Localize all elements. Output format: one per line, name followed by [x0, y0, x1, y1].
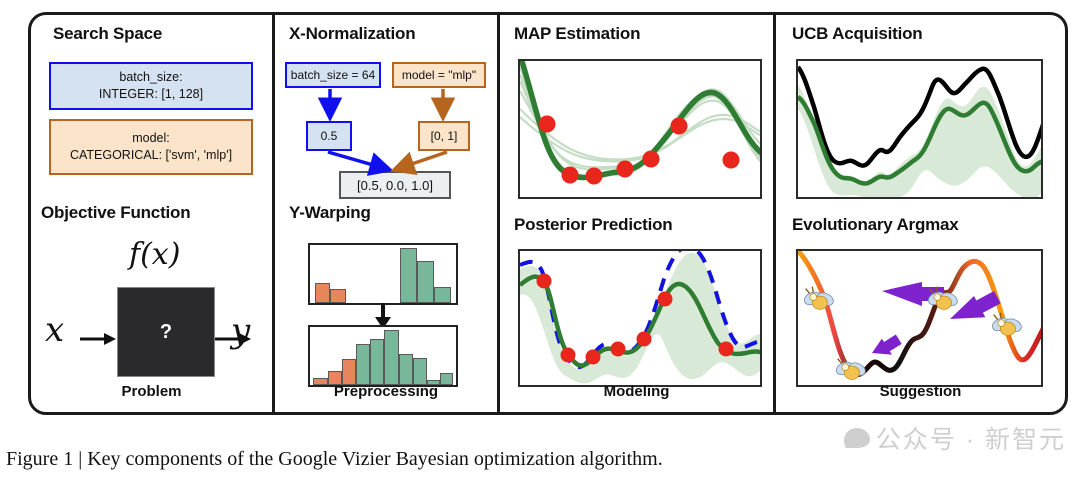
observation-point: [537, 274, 552, 289]
histogram-bar: [356, 344, 370, 385]
xnorm-node-value-05[interactable]: 0.5: [306, 121, 352, 151]
observation-point: [671, 118, 688, 135]
search-space-box-batch-size[interactable]: batch_size: INTEGER: [1, 128]: [49, 62, 253, 110]
xnorm-node-label: model = "mlp": [402, 68, 476, 82]
observation-point: [611, 342, 626, 357]
panel-title-search-space: Search Space: [53, 24, 162, 44]
observation-point: [586, 168, 603, 185]
xnorm-node-label: [0.5, 0.0, 1.0]: [357, 178, 433, 193]
map-estimation-plot: [518, 59, 762, 199]
column-problem: Search Space batch_size: INTEGER: [1, 12…: [31, 15, 272, 412]
xnorm-node-batch-size[interactable]: batch_size = 64: [285, 62, 381, 88]
observation-point: [723, 152, 740, 169]
watermark: 公众号 · 新智元: [844, 420, 1066, 456]
histogram-bar: [342, 359, 356, 385]
column-suggestion: UCB Acquisition Evolutionary Argmax: [776, 15, 1065, 412]
observation-point: [637, 332, 652, 347]
objective-output-variable: y: [231, 311, 250, 351]
histogram-bar: [417, 261, 434, 303]
xnorm-node-label: 0.5: [321, 129, 338, 143]
histogram-bar: [370, 339, 384, 385]
panel-title-objective-function: Objective Function: [41, 203, 190, 223]
panel-title-x-normalization: X-Normalization: [289, 24, 415, 44]
observation-point: [586, 350, 601, 365]
column-modeling: MAP Estimation: [500, 15, 773, 412]
watermark-text: 公众号 · 新智元: [876, 420, 1066, 456]
objective-black-box: ?: [117, 287, 215, 377]
posterior-prediction-chart: [520, 251, 762, 387]
firefly-icon: [990, 313, 1023, 336]
search-space-param-name: batch_size:: [119, 70, 182, 84]
panel-title-evolutionary-argmax: Evolutionary Argmax: [792, 215, 959, 235]
map-estimation-chart: [520, 61, 762, 199]
histogram-bar: [413, 358, 427, 385]
ucb-acquisition-chart: [798, 61, 1043, 199]
objective-input-arrow-icon: [80, 331, 116, 347]
xnorm-node-model[interactable]: model = "mlp": [392, 62, 486, 88]
figure-frame: Search Space batch_size: INTEGER: [1, 12…: [28, 12, 1068, 415]
stage-label-problem: Problem: [31, 383, 272, 400]
histogram-bar: [400, 248, 417, 303]
observation-point: [561, 348, 576, 363]
panel-title-posterior-prediction: Posterior Prediction: [514, 215, 672, 235]
panel-title-y-warping: Y-Warping: [289, 203, 371, 223]
observation-point: [539, 116, 556, 133]
evolutionary-argmax-plot: [796, 249, 1043, 387]
column-preprocessing: X-Normalization batch_size = 64 model = …: [275, 15, 497, 412]
ucb-acquisition-plot: [796, 59, 1043, 199]
figure-caption: Figure 1 | Key components of the Google …: [6, 448, 663, 471]
histogram-bar: [315, 283, 331, 303]
stage-label-preprocessing: Preprocessing: [275, 383, 497, 400]
search-space-param-name: model:: [132, 131, 170, 145]
xnorm-node-vector[interactable]: [0.5, 0.0, 1.0]: [339, 171, 451, 199]
posterior-prediction-plot: [518, 249, 762, 387]
histogram-bar: [384, 330, 398, 385]
histogram-bar: [434, 287, 451, 303]
search-space-param-type: CATEGORICAL: ['svm', 'mlp']: [70, 148, 232, 162]
observation-point: [562, 167, 579, 184]
after-warping-histogram: [308, 325, 458, 387]
xnorm-node-onehot[interactable]: [0, 1]: [418, 121, 470, 151]
evolutionary-argmax-chart: [798, 251, 1043, 387]
stage-label-modeling: Modeling: [500, 383, 773, 400]
search-space-param-type: INTEGER: [1, 128]: [99, 87, 203, 101]
before-warping-histogram: [308, 243, 458, 305]
histogram-bar: [330, 289, 346, 304]
black-box-question-mark: ?: [160, 321, 172, 344]
firefly-icon: [834, 357, 867, 380]
panel-title-ucb-acquisition: UCB Acquisition: [792, 24, 922, 44]
histogram-bar: [399, 354, 413, 385]
observation-point: [617, 161, 634, 178]
objective-function-label: f(x): [129, 237, 180, 272]
objective-input-variable: x: [45, 310, 64, 350]
wechat-bubble-icon: [844, 428, 870, 448]
observation-point: [719, 342, 734, 357]
xnorm-node-label: batch_size = 64: [291, 68, 375, 82]
search-space-box-model[interactable]: model: CATEGORICAL: ['svm', 'mlp']: [49, 119, 253, 175]
panel-title-map-estimation: MAP Estimation: [514, 24, 640, 44]
acquisition-landscape-curve: [800, 253, 1043, 375]
arrow-small: [868, 331, 904, 363]
observation-point: [643, 151, 660, 168]
xnorm-node-label: [0, 1]: [431, 129, 458, 143]
stage-label-suggestion: Suggestion: [776, 383, 1065, 400]
observation-point: [658, 292, 673, 307]
